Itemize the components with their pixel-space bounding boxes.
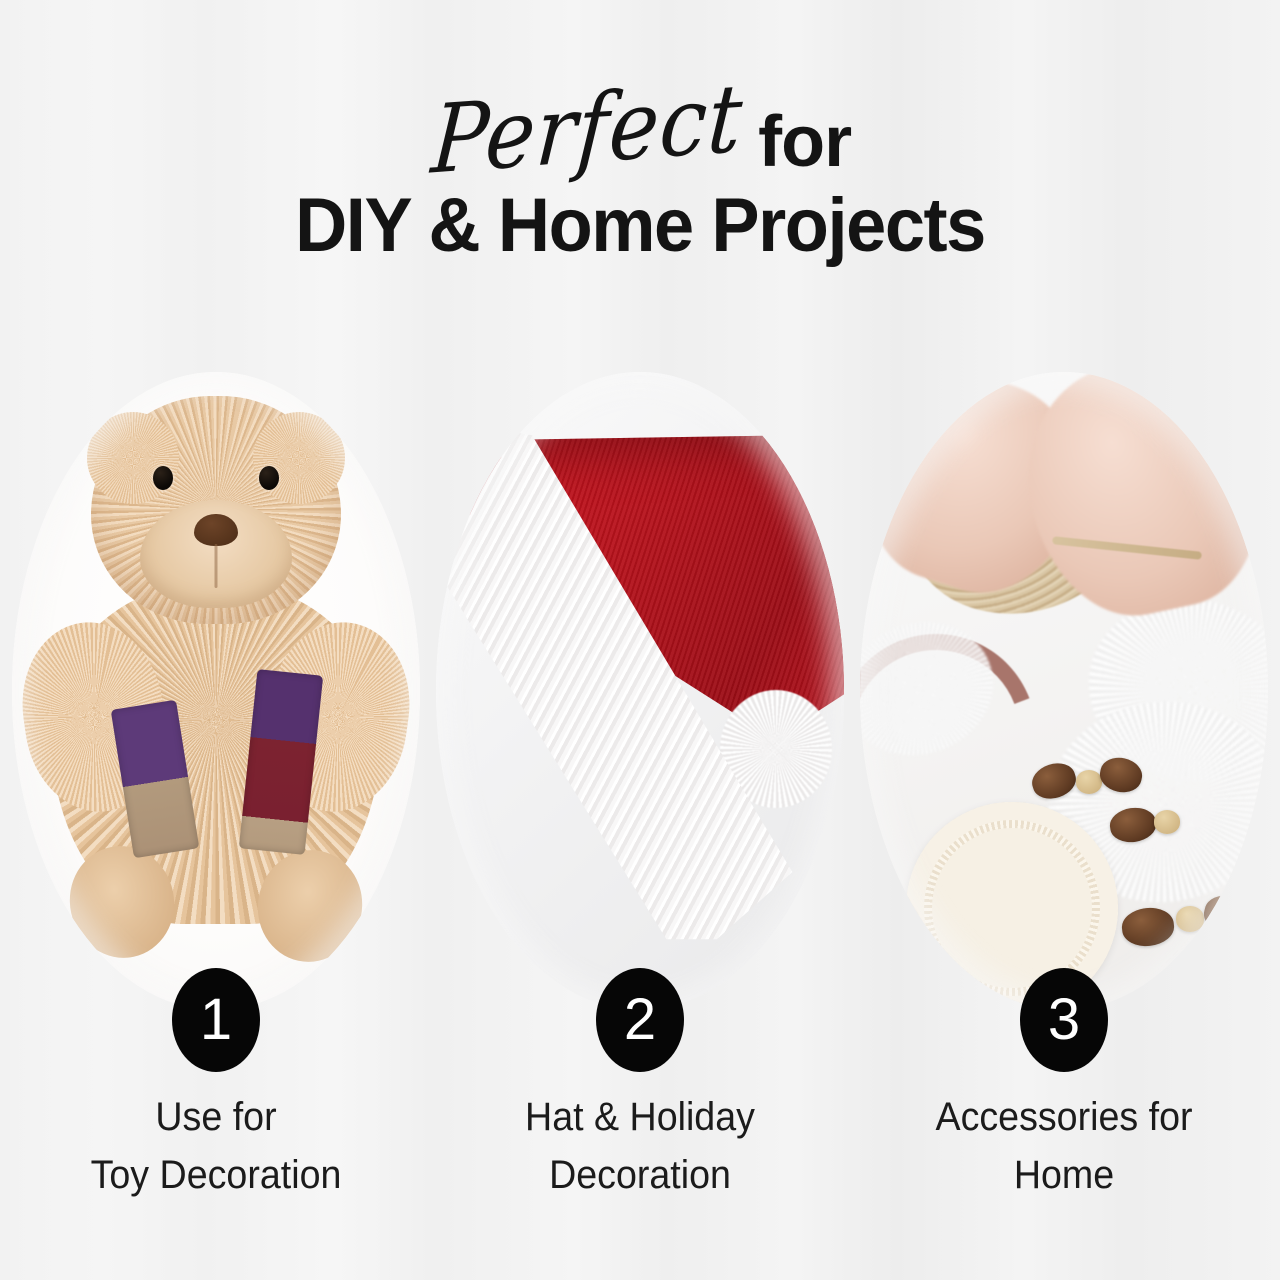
bear-left-ear [87, 412, 179, 504]
caption-line-2: Decoration [443, 1146, 838, 1204]
step-number-badge-1: 1 [172, 968, 260, 1072]
bear-mouth-line [215, 544, 218, 588]
bead-5 [1154, 810, 1180, 834]
bear-striped-scarf [116, 658, 316, 848]
dreamcatcher-web [932, 828, 1092, 988]
caption-line-2: Home [867, 1146, 1262, 1204]
step-number-badge-2: 2 [596, 968, 684, 1072]
teddy-bear-image [12, 372, 420, 1010]
bear-left-eye [153, 466, 173, 490]
caption-line-1: Use for [19, 1088, 414, 1146]
bear-head-shape [91, 396, 341, 624]
caption-line-2: Toy Decoration [19, 1146, 414, 1204]
caption-line-1: Accessories for [867, 1088, 1262, 1146]
headline-script-word: Perfect [429, 74, 746, 186]
headline-subtitle: DIY & Home Projects [32, 188, 1248, 264]
scarf-stripe-right [239, 669, 323, 855]
bead-8 [1176, 906, 1204, 932]
bear-right-eye [259, 466, 279, 490]
headline-line-1: Perfect for [0, 70, 1280, 180]
santa-hat-image [436, 372, 844, 1010]
caption-line-1: Hat & Holiday [443, 1088, 838, 1146]
step-number-badge-3: 3 [1020, 968, 1108, 1072]
feature-caption-1: Use for Toy Decoration [19, 1088, 414, 1204]
craft-dreamcatcher-image [860, 372, 1268, 1010]
feature-card-3[interactable]: 3 Accessories for Home [854, 372, 1274, 1212]
headline-bold-word: for [758, 106, 851, 178]
bear-nose [194, 514, 238, 546]
feature-caption-3: Accessories for Home [867, 1088, 1262, 1204]
feature-card-2[interactable]: 2 Hat & Holiday Decoration [430, 372, 850, 1212]
feature-card-1[interactable]: 1 Use for Toy Decoration [6, 372, 426, 1212]
scarf-stripe-left [111, 700, 200, 858]
feature-caption-2: Hat & Holiday Decoration [443, 1088, 838, 1204]
feature-card-row: 1 Use for Toy Decoration 2 Hat & Holiday… [0, 372, 1280, 1212]
bear-right-ear [253, 412, 345, 504]
page-title: Perfect for DIY & Home Projects [0, 70, 1280, 264]
bead-2 [1076, 770, 1102, 794]
